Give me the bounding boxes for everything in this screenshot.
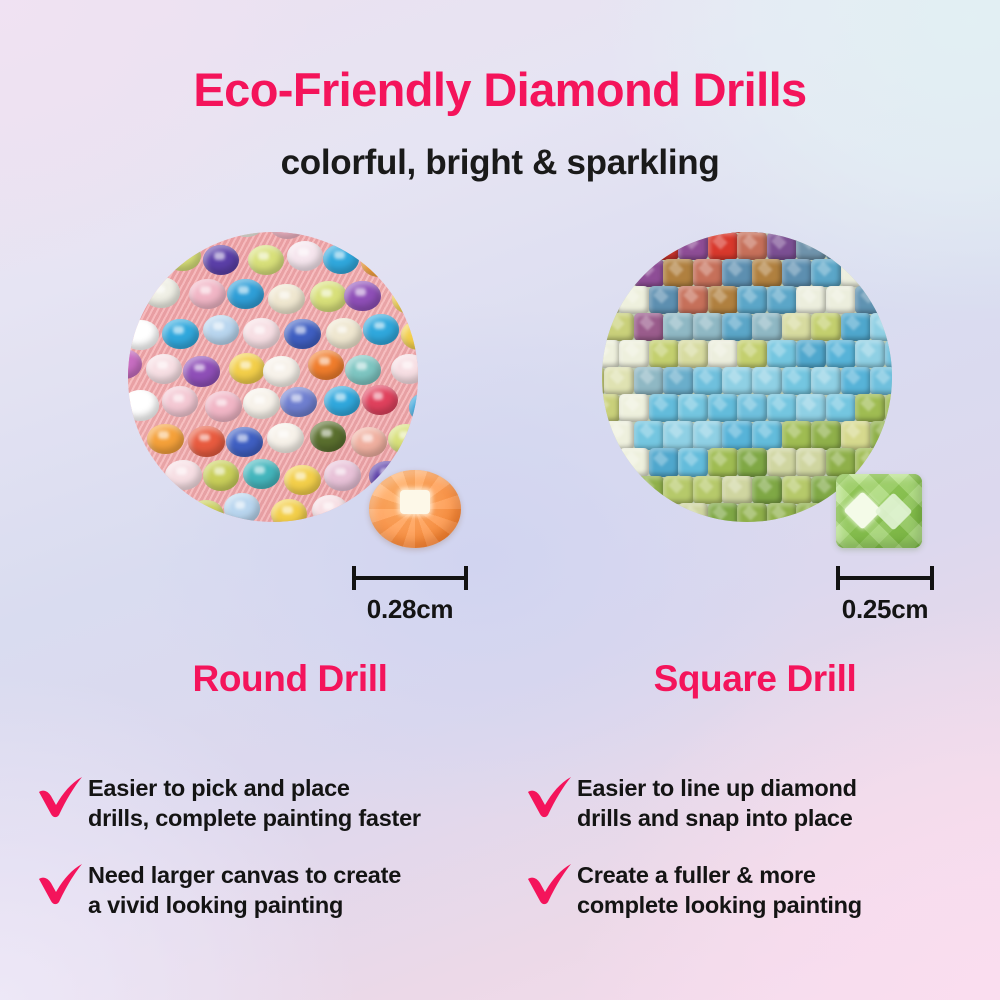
bullet-line: Create a fuller & more <box>577 861 862 891</box>
round-drill-highlight <box>400 490 429 513</box>
list-item-text: Create a fuller & more complete looking … <box>577 859 862 920</box>
scale-tick-right <box>464 566 468 590</box>
list-item-text: Need larger canvas to create a vivid loo… <box>88 859 401 920</box>
bullet-line: complete looking painting <box>577 891 862 921</box>
square-drill-scale: 0.25cm <box>836 566 934 625</box>
list-item: Create a fuller & more complete looking … <box>525 859 995 920</box>
bullet-line: Easier to line up diamond <box>577 774 857 804</box>
bullet-line: a vivid looking painting <box>88 891 401 921</box>
bullet-line: Easier to pick and place <box>88 774 421 804</box>
round-drill-photo <box>128 232 418 522</box>
list-item: Need larger canvas to create a vivid loo… <box>36 859 506 920</box>
list-item-text: Easier to line up diamond drills and sna… <box>577 772 857 833</box>
square-scale-bar <box>836 566 934 588</box>
infographic-poster: Eco-Friendly Diamond Drills colorful, br… <box>0 0 1000 1000</box>
round-scale-label: 0.28cm <box>352 594 468 625</box>
page-subtitle: colorful, bright & sparkling <box>0 143 1000 183</box>
bullet-line: drills and snap into place <box>577 804 857 834</box>
list-item: Easier to line up diamond drills and sna… <box>525 772 995 833</box>
square-drill-bullets: Easier to line up diamond drills and sna… <box>525 772 995 946</box>
check-icon <box>525 774 577 820</box>
list-item-text: Easier to pick and place drills, complet… <box>88 772 421 833</box>
scale-tick-right <box>930 566 934 590</box>
scale-line <box>352 576 468 580</box>
check-icon <box>36 774 88 820</box>
round-drill-scale: 0.28cm <box>352 566 468 625</box>
bullet-line: Need larger canvas to create <box>88 861 401 891</box>
round-bead-field <box>128 232 418 522</box>
square-drill-heading: Square Drill <box>575 658 935 700</box>
list-item: Easier to pick and place drills, complet… <box>36 772 506 833</box>
round-drill-heading: Round Drill <box>110 658 470 700</box>
round-scale-bar <box>352 566 468 588</box>
orange-round-drill-sample <box>369 470 461 548</box>
round-drill-bullets: Easier to pick and place drills, complet… <box>36 772 506 946</box>
bullet-line: drills, complete painting faster <box>88 804 421 834</box>
green-square-drill-sample <box>836 474 922 548</box>
page-title: Eco-Friendly Diamond Drills <box>0 62 1000 117</box>
check-icon <box>36 861 88 907</box>
check-icon <box>525 861 577 907</box>
scale-line <box>836 576 934 580</box>
square-scale-label: 0.25cm <box>836 594 934 625</box>
